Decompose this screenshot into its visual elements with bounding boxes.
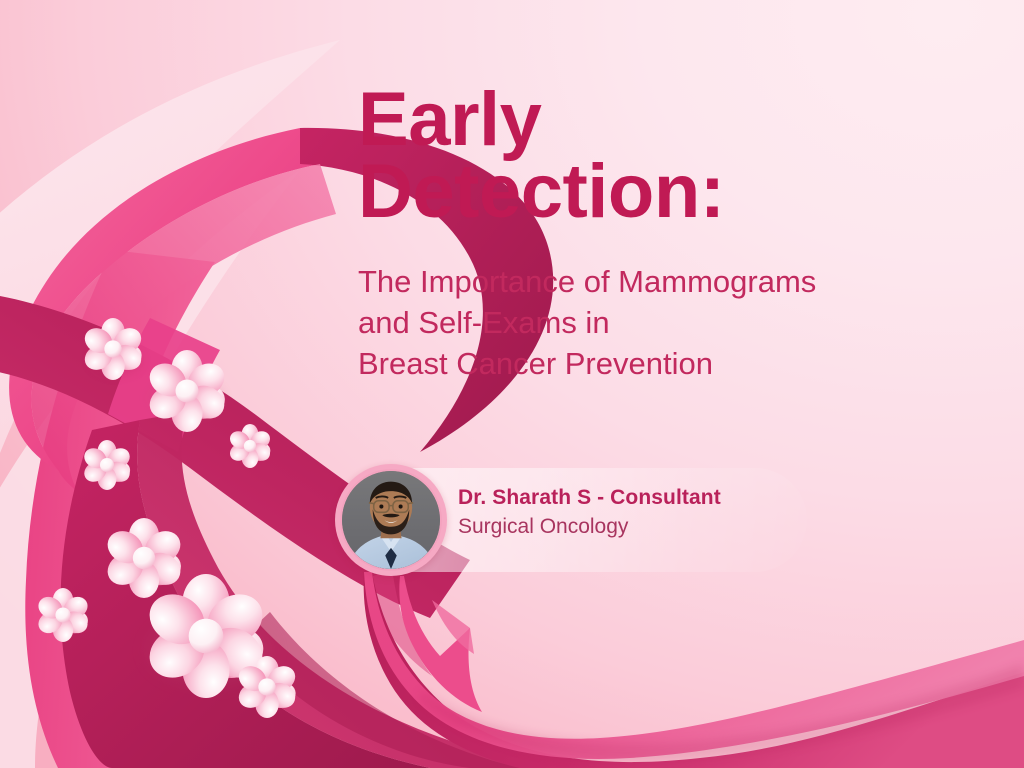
presenter-role: Surgical Oncology <box>458 515 721 539</box>
slide-canvas: Early Detection: The Importance of Mammo… <box>0 0 1024 768</box>
presenter-name: Dr. Sharath S - Consultant <box>458 486 721 510</box>
page-title: Early Detection: <box>358 84 1008 228</box>
avatar-image <box>340 469 442 571</box>
title-block: Early Detection: The Importance of Mammo… <box>358 84 1008 385</box>
avatar <box>335 464 447 576</box>
page-subtitle: The Importance of Mammograms and Self-Ex… <box>358 262 1008 385</box>
doctor-portrait-photo-icon <box>342 471 440 569</box>
presenter-details: Dr. Sharath S - Consultant Surgical Onco… <box>458 486 721 539</box>
